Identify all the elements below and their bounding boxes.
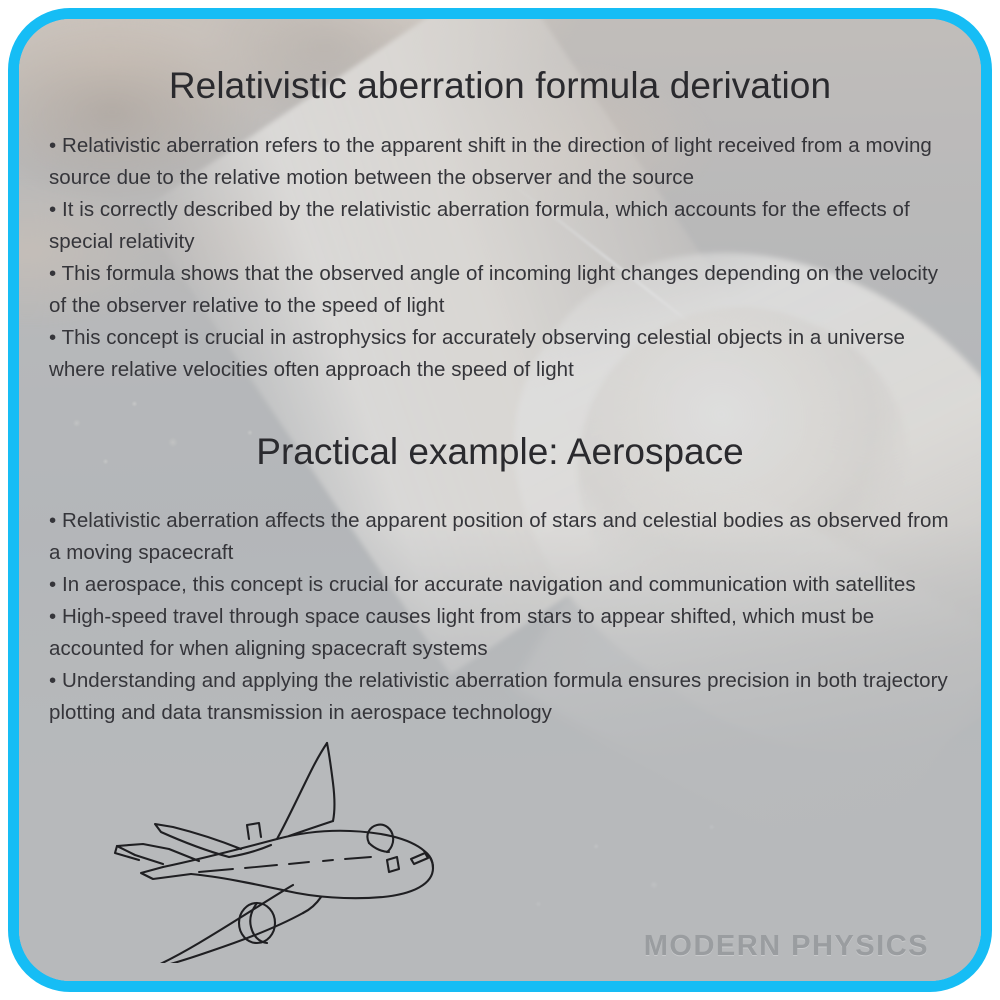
bullet-item: • This formula shows that the observed a… <box>49 258 951 322</box>
section-title: Practical example: Aerospace <box>49 430 951 474</box>
slide-frame: Relativistic aberration formula derivati… <box>8 8 992 992</box>
bullet-item: • This concept is crucial in astrophysic… <box>49 322 951 386</box>
bullet-item: • High-speed travel through space causes… <box>49 601 951 665</box>
watermark-label: MODERN PHYSICS <box>644 930 929 963</box>
bullet-item: • Relativistic aberration affects the ap… <box>49 505 951 569</box>
primary-bullet-list: • Relativistic aberration refers to the … <box>49 130 951 386</box>
bullet-item: • It is correctly described by the relat… <box>49 194 951 258</box>
bullet-item: • Relativistic aberration refers to the … <box>49 130 951 194</box>
secondary-bullet-list: • Relativistic aberration affects the ap… <box>49 505 951 729</box>
bullet-item: • Understanding and applying the relativ… <box>49 665 951 729</box>
slide-title: Relativistic aberration formula derivati… <box>49 64 951 108</box>
slide-content: Relativistic aberration formula derivati… <box>19 19 981 981</box>
bullet-item: • In aerospace, this concept is crucial … <box>49 569 951 601</box>
